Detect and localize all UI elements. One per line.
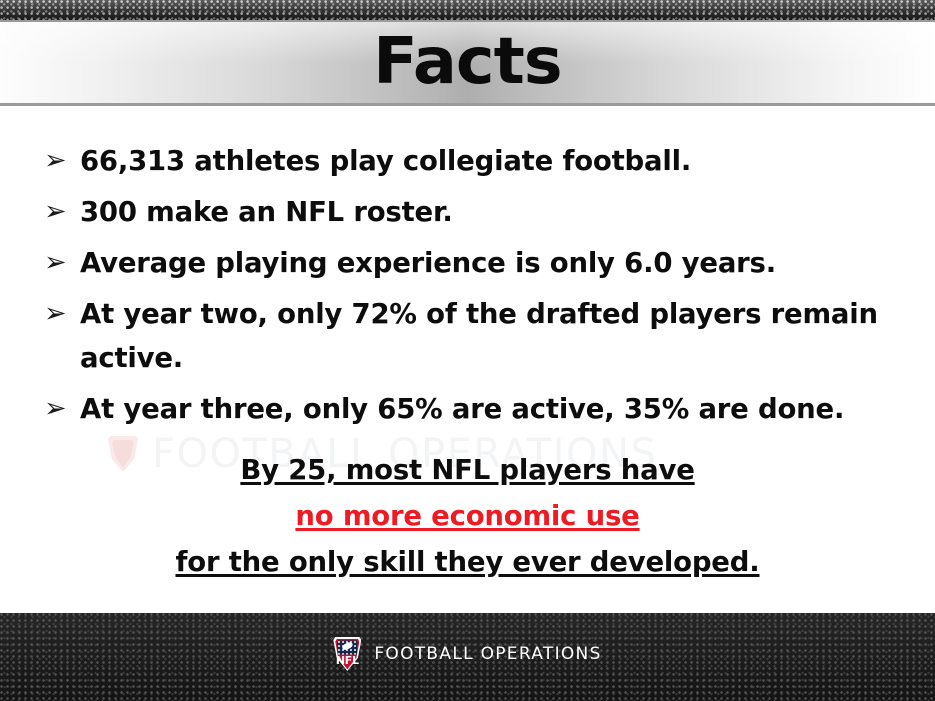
closing-statement: By 25, most NFL players have no more eco… [0,447,935,585]
arrow-bullet-icon: ➢ [42,387,80,431]
list-item-text: At year three, only 65% are active, 35% … [80,387,902,431]
title-banner: Facts [0,20,935,106]
arrow-bullet-icon: ➢ [42,139,80,183]
list-item-text: 300 make an NFL roster. [80,190,902,234]
footer-brand: NFL FOOTBALL OPERATIONS [333,637,601,671]
footer-text: FOOTBALL OPERATIONS [374,646,601,663]
list-item: ➢ At year two, only 72% of the drafted p… [42,292,902,380]
slide: Facts FOOTBALL OPERATIONS ➢ 66,313 athle… [0,0,935,701]
closing-line-3: for the only skill they ever developed. [0,539,935,585]
arrow-bullet-icon: ➢ [42,190,80,234]
closing-line-2-highlight: no more economic use [0,493,935,539]
top-texture-band [0,0,935,22]
facts-list: ➢ 66,313 athletes play collegiate footba… [42,139,902,438]
nfl-shield-label: NFL [333,655,361,667]
list-item: ➢ 66,313 athletes play collegiate footba… [42,139,902,183]
list-item-text: At year two, only 72% of the drafted pla… [80,292,902,380]
arrow-bullet-icon: ➢ [42,241,80,285]
closing-line-1: By 25, most NFL players have [0,447,935,493]
list-item: ➢ At year three, only 65% are active, 35… [42,387,902,431]
list-item: ➢ Average playing experience is only 6.0… [42,241,902,285]
list-item: ➢ 300 make an NFL roster. [42,190,902,234]
slide-content: FOOTBALL OPERATIONS ➢ 66,313 athletes pl… [0,109,935,613]
footer-bar: NFL FOOTBALL OPERATIONS [0,613,935,701]
list-item-text: 66,313 athletes play collegiate football… [80,139,902,183]
list-item-text: Average playing experience is only 6.0 y… [80,241,902,285]
page-title: Facts [373,30,561,94]
arrow-bullet-icon: ➢ [42,292,80,336]
nfl-shield-icon: NFL [333,637,361,671]
